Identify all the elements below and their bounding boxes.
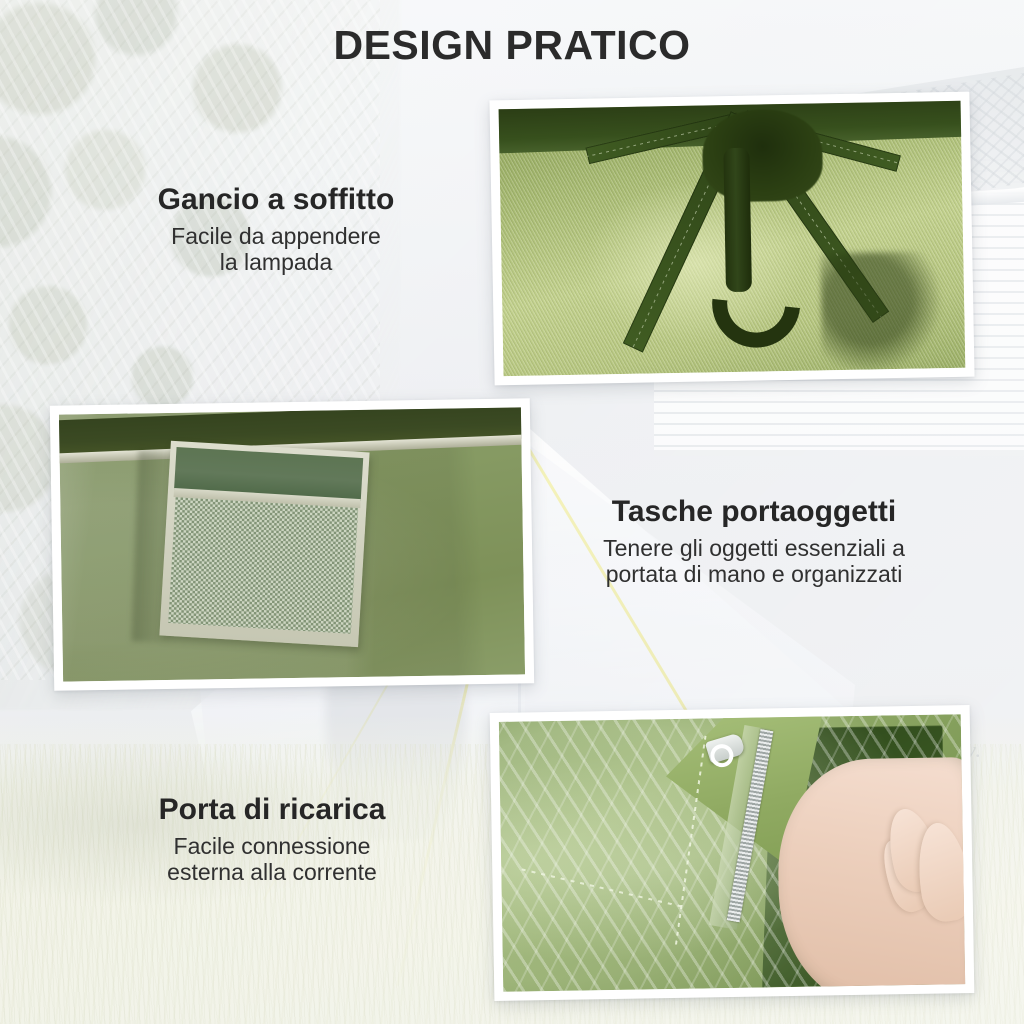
feature-description-line: esterna alla corrente (167, 859, 377, 885)
feature-description-line: portata di mano e organizzati (606, 561, 903, 587)
feature-heading-charging-port: Porta di ricarica (62, 793, 482, 827)
feature-description-charging-port: Facile connessione esterna alla corrente (62, 833, 482, 885)
feature-text-charging-port: Porta di ricarica Facile connessione est… (62, 793, 482, 885)
photo-ceiling-hook (499, 101, 966, 376)
feature-description-storage-pockets: Tenere gli oggetti essenziali a portata … (528, 535, 980, 587)
feature-heading-ceiling-hook: Gancio a soffitto (70, 183, 482, 217)
feature-text-storage-pockets: Tasche portaoggetti Tenere gli oggetti e… (528, 495, 980, 587)
photo-charging-port (499, 714, 965, 992)
page-title: DESIGN PRATICO (0, 22, 1024, 69)
hook-cast-shadow (820, 251, 942, 373)
hand (777, 757, 966, 992)
feature-text-ceiling-hook: Gancio a soffitto Facile da appendere la… (70, 183, 482, 275)
photo-storage-pocket (59, 407, 525, 681)
tent-ceiling-hub (702, 109, 824, 203)
feature-heading-storage-pockets: Tasche portaoggetti (528, 495, 980, 529)
feature-description-line: Tenere gli oggetti essenziali a (603, 535, 905, 561)
feature-description-line: Facile da appendere (171, 223, 381, 249)
photo-panel-ceiling-hook (489, 92, 974, 386)
pocket-mesh-panel (168, 496, 358, 633)
feature-description-line: la lampada (220, 249, 333, 275)
infographic-root: ny. DESIGN PRATICO (0, 0, 1024, 1024)
photo-panel-charging-port (490, 705, 975, 1001)
feature-description-ceiling-hook: Facile da appendere la lampada (70, 223, 482, 275)
feature-description-line: Facile connessione (174, 833, 371, 859)
storage-pocket-frame (159, 440, 369, 646)
photo-panel-storage-pocket (50, 398, 534, 691)
